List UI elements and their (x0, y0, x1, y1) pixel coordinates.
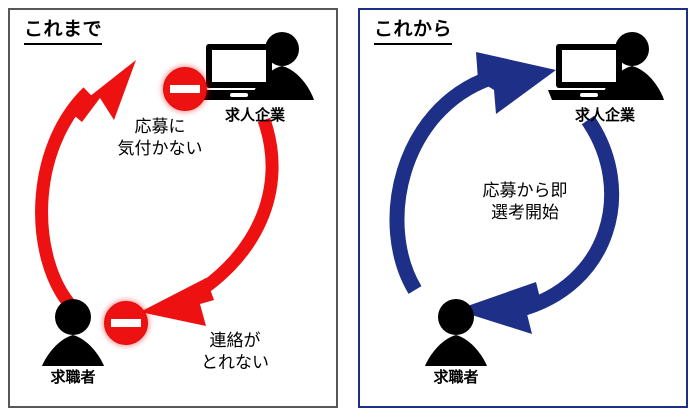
caption-instant-screening-line2: 選考開始 (455, 202, 595, 224)
panel-after: これから 求人企業 (358, 8, 688, 408)
arrow-seeker-to-company (42, 60, 136, 307)
caption-apply-unnoticed-line2: 気付かない (95, 138, 225, 160)
panel-after-title: これから (374, 20, 452, 45)
actor-company-after-label: 求人企業 (545, 104, 665, 125)
person-icon (34, 298, 112, 368)
actor-seeker-after-label: 求職者 (396, 366, 516, 387)
person-icon (417, 298, 495, 368)
actor-seeker-before-label: 求職者 (13, 366, 133, 387)
actor-seeker-after: 求職者 (396, 298, 516, 387)
caption-apply-unnoticed: 応募に 気付かない (95, 116, 225, 160)
caption-instant-screening-line1: 応募から即 (455, 180, 595, 202)
caption-instant-screening: 応募から即 選考開始 (455, 180, 595, 224)
arrow-seeker-to-company (397, 52, 556, 290)
actor-company-after: 求人企業 (545, 30, 665, 125)
company-laptop-person-icon (546, 30, 664, 106)
caption-no-contact: 連絡が とれない (170, 330, 300, 374)
panel-before: これまで (8, 8, 338, 408)
caption-no-contact-line2: とれない (170, 352, 300, 374)
caption-apply-unnoticed-line1: 応募に (95, 116, 225, 138)
company-laptop-person-icon (196, 30, 314, 106)
no-entry-icon-bottom (104, 301, 148, 345)
figure-canvas: これまで (0, 0, 700, 420)
actor-company-before: 求人企業 (195, 30, 315, 125)
no-entry-icon-top (163, 67, 207, 111)
panel-before-title: これまで (24, 20, 102, 45)
caption-no-contact-line1: 連絡が (170, 330, 300, 352)
